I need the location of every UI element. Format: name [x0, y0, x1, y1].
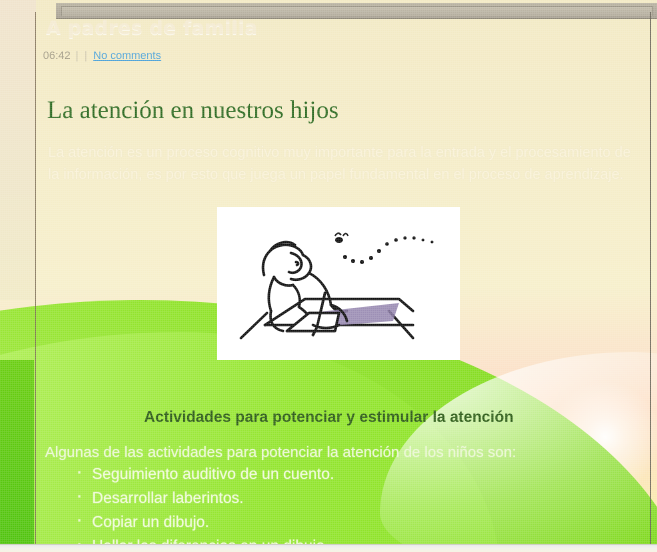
no-comments-link[interactable]: No comments: [93, 50, 161, 62]
post-meta: 06:42 | | No comments: [43, 50, 161, 62]
list-item: Desarrollar laberintos.: [70, 487, 630, 511]
post-title: A padres de familia: [46, 17, 258, 39]
content-right-rule: [650, 12, 651, 552]
meta-separator-2: |: [84, 50, 88, 62]
content-left-rule: [35, 12, 36, 552]
entry-paragraph: La atención es un proceso cognitivo muy …: [48, 142, 633, 186]
list-item: Copiar un dibujo.: [70, 511, 630, 535]
page-canvas: A padres de familia 06:42 | | No comment…: [0, 0, 657, 552]
post-figure[interactable]: [217, 207, 460, 360]
child-writing-at-desk-with-fly-illustration: [217, 207, 460, 360]
entry-title: La atención en nuestros hijos: [47, 97, 339, 125]
activities-lead-line: Algunas de las actividades para potencia…: [45, 444, 635, 461]
bottom-strip: [0, 544, 657, 552]
window-top-band-inner: [61, 6, 653, 16]
background-green-left-edge: [0, 360, 34, 552]
background-left-gutter: [0, 0, 36, 300]
meta-separator-1: |: [76, 50, 80, 62]
post-time: 06:42: [43, 50, 71, 62]
activities-list: Seguimiento auditivo de un cuento. Desar…: [70, 463, 630, 552]
section-heading: Actividades para potenciar y estimular l…: [144, 409, 514, 427]
list-item: Seguimiento auditivo de un cuento.: [70, 463, 630, 487]
